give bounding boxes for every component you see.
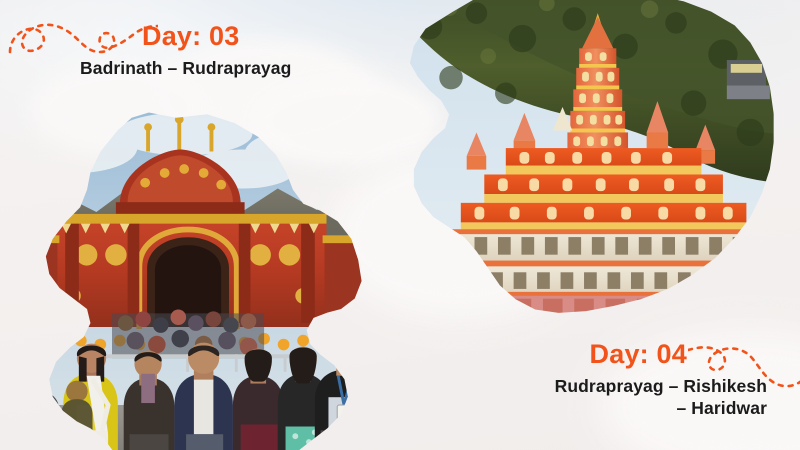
badrinath-group-illustration — [18, 113, 361, 450]
day-04-route-line-2: – Haridwar — [677, 398, 767, 418]
hillside-building — [727, 60, 770, 99]
photo-image — [18, 113, 361, 450]
photo-rishikesh-temple — [386, 0, 786, 334]
rishikesh-temple-illustration — [390, 0, 781, 330]
day-04-title: Day: 04 — [467, 340, 687, 370]
dashed-loop-line-left — [8, 8, 158, 70]
day-03-block: Day: 03 Badrinath – Rudraprayag — [142, 22, 291, 79]
dashed-loop-line-right — [688, 336, 800, 398]
day-03-title: Day: 03 — [142, 22, 291, 52]
itinerary-slide: Day: 03 Badrinath – Rudraprayag Day: 04 … — [0, 0, 800, 450]
photo-image — [390, 0, 781, 330]
photo-badrinath-group — [14, 108, 366, 450]
